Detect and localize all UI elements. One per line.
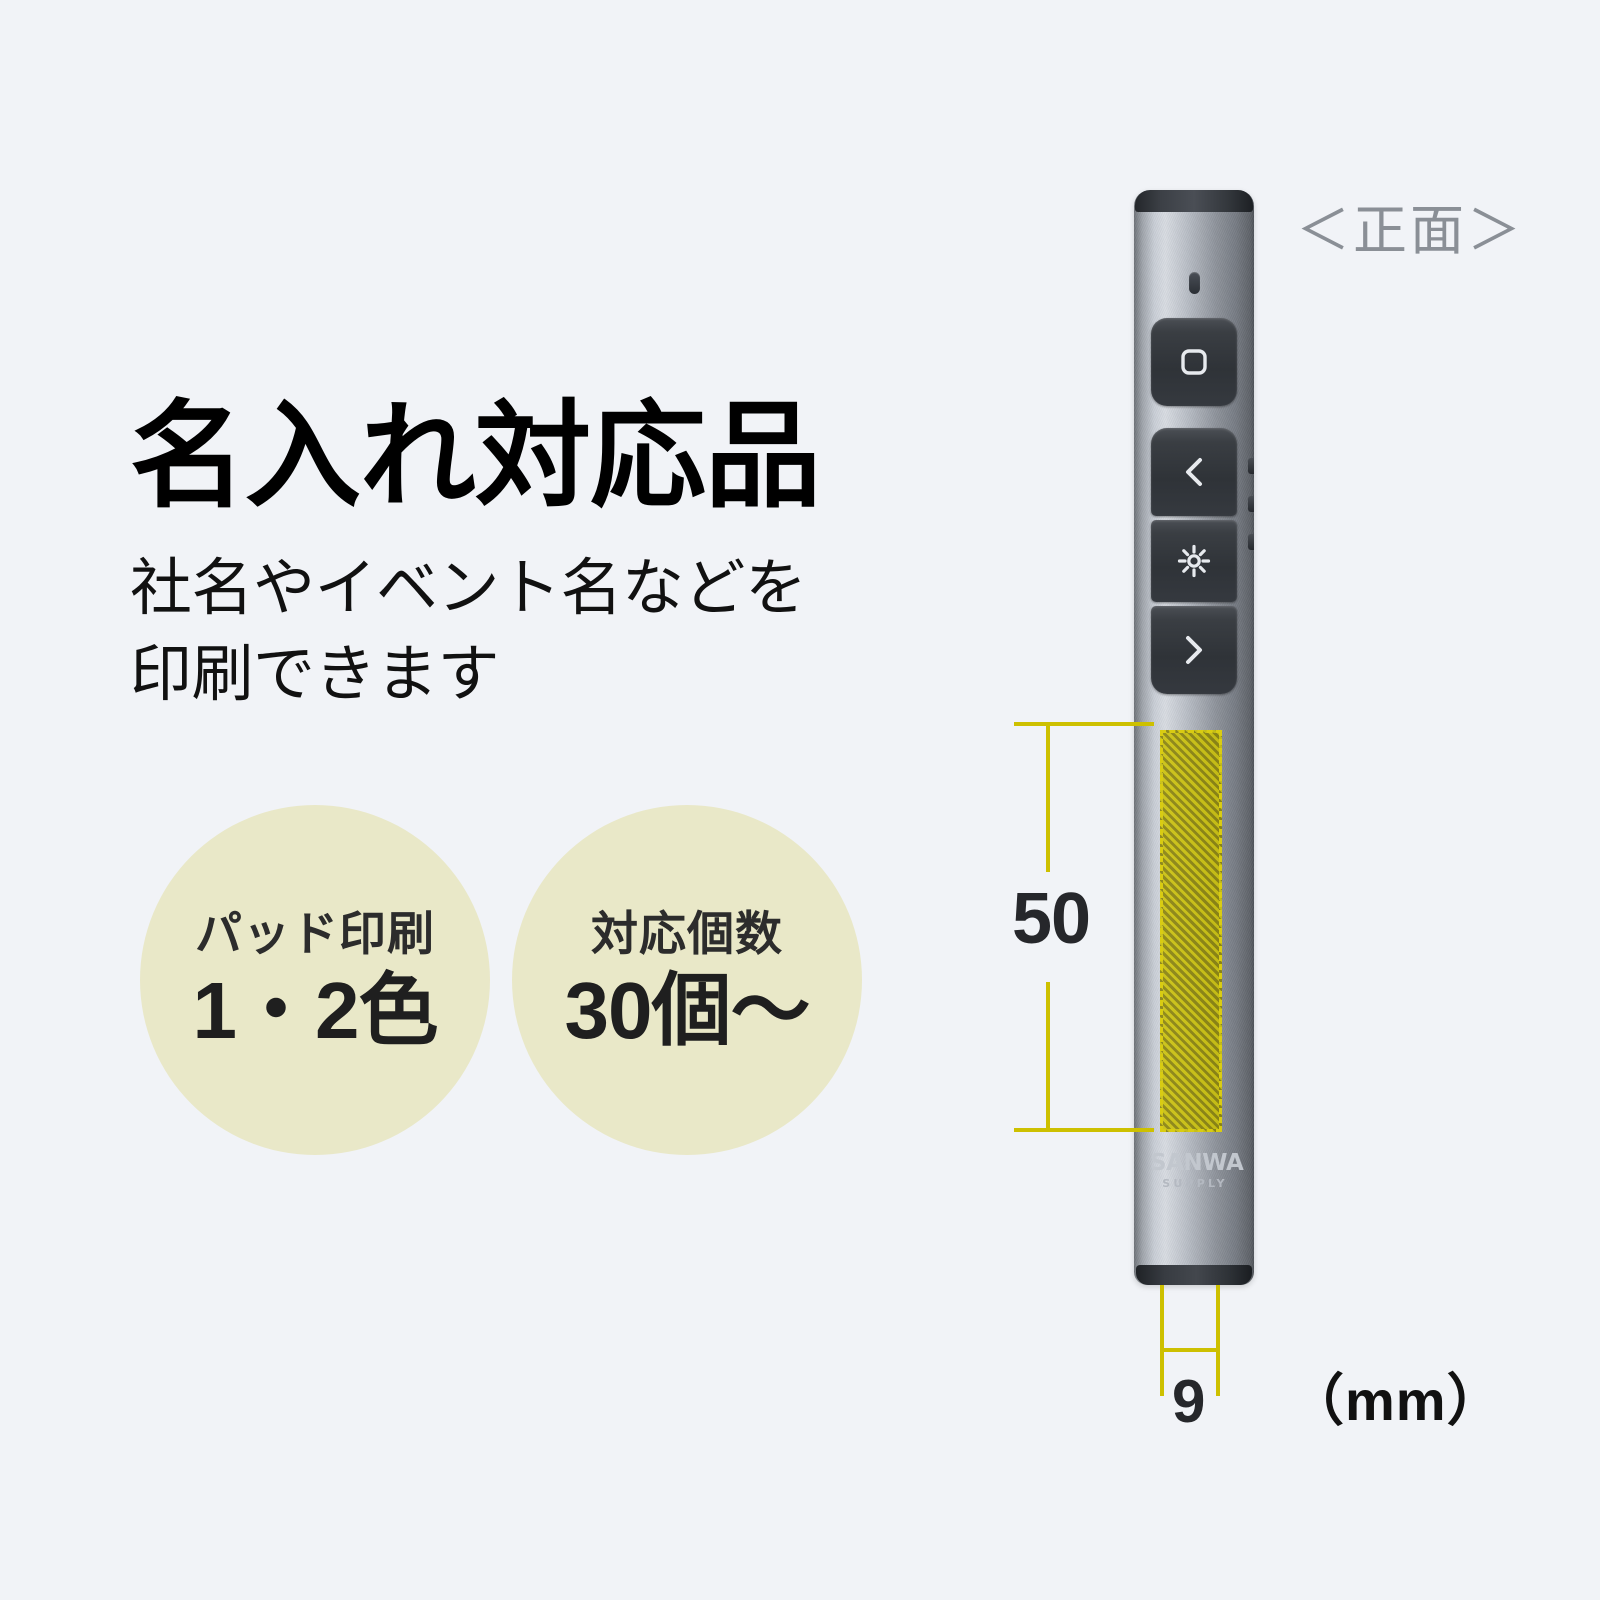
device-top-cap (1135, 190, 1253, 212)
page-subtitle: 社名やイベント名などを 印刷できます (130, 546, 950, 717)
chevron-left-icon (1177, 453, 1211, 491)
badge-value: 1・2色 (193, 971, 438, 1051)
previous-button[interactable] (1151, 428, 1237, 516)
side-button-lower[interactable] (1248, 534, 1254, 550)
blackout-button[interactable] (1151, 318, 1237, 406)
badge-minimum-quantity: 対応個数 30個〜 (512, 805, 862, 1155)
subtitle-line-2: 印刷できます (130, 632, 950, 718)
side-button-middle[interactable] (1248, 496, 1254, 512)
next-button[interactable] (1151, 606, 1237, 694)
page-title: 名入れ対応品 (130, 395, 950, 518)
dimension-extension-line-top (1014, 722, 1154, 726)
dimension-width-value: 9 (1172, 1372, 1205, 1432)
feature-badge-group: パッド印刷 1・2色 対応個数 30個〜 (140, 805, 862, 1155)
subtitle-line-1: 社名やイベント名などを (130, 546, 950, 632)
dimension-extension-line-right (1216, 1268, 1220, 1396)
dimension-height-value: 50 (1012, 883, 1090, 955)
view-label-front: ＜正面＞ (1296, 186, 1524, 265)
product-illustration-presenter: SANWA SUPPLY (1134, 190, 1254, 1285)
device-bottom-cap (1136, 1265, 1252, 1285)
dimension-arrow-line-lower (1046, 982, 1050, 1130)
badge-pad-printing: パッド印刷 1・2色 (140, 805, 490, 1155)
chevron-right-icon (1177, 631, 1211, 669)
led-indicator-icon (1189, 272, 1200, 294)
badge-label: パッド印刷 (195, 910, 435, 957)
promo-text-block: 名入れ対応品 社名やイベント名などを 印刷できます (130, 395, 950, 717)
print-area-highlight (1160, 730, 1222, 1132)
laser-button[interactable] (1151, 520, 1237, 602)
badge-label: 対応個数 (591, 910, 783, 957)
dimension-arrow-line-width (1160, 1348, 1220, 1352)
side-button-upper[interactable] (1248, 458, 1254, 474)
badge-value: 30個〜 (565, 971, 810, 1051)
sun-icon (1176, 543, 1212, 579)
brand-logo: SANWA SUPPLY (1150, 1152, 1240, 1189)
dimension-unit-label: （mm） (1288, 1373, 1504, 1429)
dimension-extension-line-bottom (1014, 1128, 1154, 1132)
dimension-extension-line-left (1160, 1268, 1164, 1396)
dimension-arrow-line-upper (1046, 726, 1050, 872)
brand-tagline: SUPPLY (1150, 1178, 1240, 1189)
brand-name: SANWA (1150, 1152, 1240, 1175)
rounded-square-icon (1177, 345, 1211, 379)
